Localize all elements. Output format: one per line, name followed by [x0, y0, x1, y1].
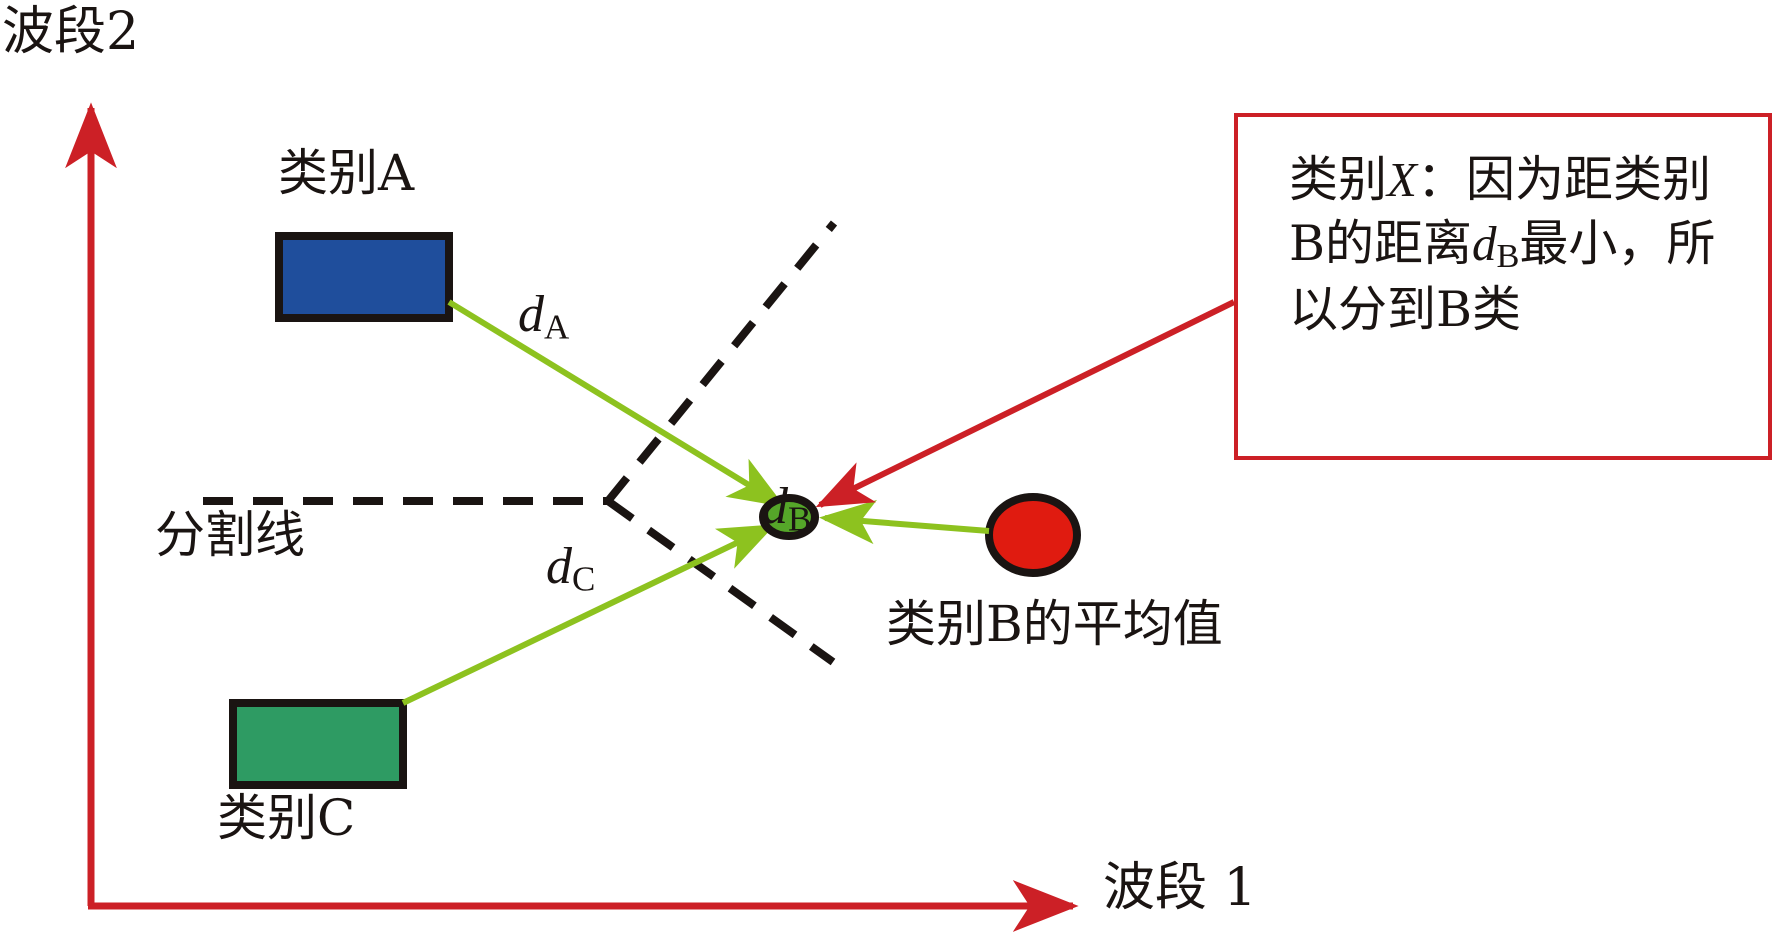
x-axis-label: 波段 1 — [1103, 862, 1257, 914]
distance-a-arrow — [449, 302, 780, 504]
divider-label: 分割线 — [155, 510, 305, 560]
y-axis-label: 波段2 — [2, 6, 139, 58]
distance-c-symbol: d — [546, 538, 572, 595]
callout-text-italic-d: d — [1472, 216, 1497, 271]
class-b-mean-ellipse[interactable] — [989, 497, 1077, 573]
class-a-rectangle[interactable] — [279, 236, 449, 318]
class-b-mean-label: 类别B的平均值 — [886, 599, 1223, 649]
class-a-label: 类别A — [278, 148, 414, 198]
class-c-label: 类别C — [217, 793, 355, 843]
distance-b-label: dB — [762, 477, 811, 540]
distance-b-symbol: d — [762, 478, 788, 535]
distance-c-label: dC — [546, 537, 595, 600]
callout-leader-line — [820, 302, 1234, 505]
callout-text-subscript-b: B — [1497, 237, 1520, 275]
callout-text-italic-x: X — [1387, 152, 1417, 207]
diagram-canvas: 波段2 波段 1 类别A 类别C 类别B的平均值 分割线 dA dB dC 类别… — [0, 0, 1774, 944]
class-c-rectangle[interactable] — [233, 703, 403, 785]
divider-upper-diagonal-line — [608, 223, 834, 501]
callout-text-before: 类别 — [1289, 151, 1387, 208]
distance-a-symbol: d — [518, 286, 544, 343]
distance-b-arrow — [825, 518, 989, 531]
distance-c-subscript: C — [572, 560, 595, 599]
callout-text: 类别X：因为距类别B的距离dB最小，所以分到B类 — [1289, 148, 1719, 342]
distance-a-subscript: A — [544, 308, 569, 347]
distance-b-subscript: B — [788, 500, 811, 539]
distance-a-label: dA — [518, 285, 569, 348]
